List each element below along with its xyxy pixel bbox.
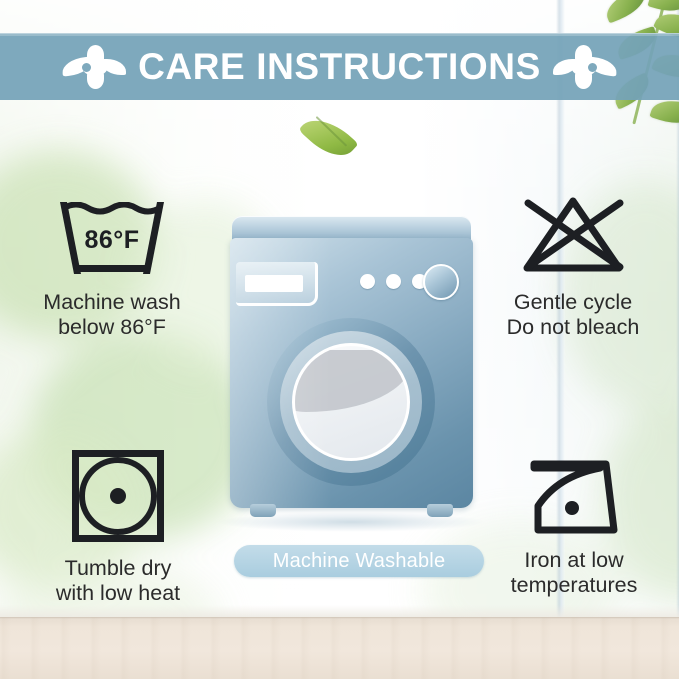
wooden-table-top — [0, 617, 679, 679]
care-label-line2: Do not bleach — [470, 315, 676, 340]
iron-icon — [514, 452, 634, 536]
iron-svg — [514, 452, 634, 536]
header-banner: CARE INSTRUCTIONS — [0, 33, 679, 100]
detergent-drawer — [236, 262, 318, 306]
fleur-de-lis-icon-left — [62, 43, 124, 91]
fleur-de-lis-icon-right — [555, 43, 617, 91]
bleach-triangle-svg — [514, 194, 632, 276]
care-item-iron-low: Iron at low temperatures — [472, 452, 676, 599]
wash-temperature-value: 86°F — [60, 226, 164, 255]
care-label-line2: with low heat — [14, 581, 222, 606]
care-item-machine-wash: 86°F Machine wash below 86°F — [8, 196, 216, 341]
wash-tub-wave — [63, 202, 161, 216]
machine-washable-badge: Machine Washable — [234, 545, 484, 577]
washing-machine-illustration — [230, 216, 473, 526]
badge-label: Machine Washable — [273, 550, 446, 573]
care-label-line1: Iron at low — [472, 548, 676, 573]
care-label-line1: Machine wash — [8, 290, 216, 315]
care-label-line1: Tumble dry — [14, 556, 222, 581]
door-ring — [280, 331, 422, 473]
wash-tub-icon: 86°F — [54, 196, 170, 274]
care-item-tumble-dry: Tumble dry with low heat — [14, 450, 222, 607]
tumble-dry-square-icon — [72, 450, 164, 542]
care-label-line2: temperatures — [472, 573, 676, 598]
low-heat-dot-icon — [110, 488, 126, 504]
machine-body — [230, 238, 473, 508]
page-title: CARE INSTRUCTIONS — [138, 48, 541, 85]
program-knob — [423, 264, 459, 300]
care-item-gentle-cycle-no-bleach: Gentle cycle Do not bleach — [470, 194, 676, 341]
floating-leaf-icon — [296, 117, 359, 172]
machine-foot-right — [427, 504, 453, 517]
care-label-line2: below 86°F — [8, 315, 216, 340]
machine-door — [267, 318, 435, 486]
control-indicator-dots — [360, 274, 427, 289]
care-instructions-graphic: CARE INSTRUCTIONS — [0, 0, 679, 679]
table-edge — [0, 605, 679, 617]
triangle-crossed-out-icon — [514, 194, 632, 276]
machine-foot-left — [250, 504, 276, 517]
door-glass — [292, 343, 410, 461]
care-label-line1: Gentle cycle — [470, 290, 676, 315]
